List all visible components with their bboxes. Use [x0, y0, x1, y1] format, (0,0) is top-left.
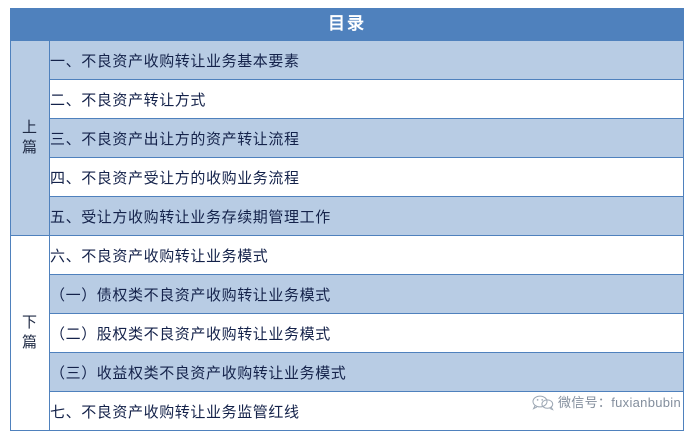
wechat-bubble-icon	[532, 394, 552, 410]
toc-entry-1[interactable]: 一、不良资产收购转让业务基本要素	[50, 41, 684, 80]
part-label-char-2: 篇	[11, 333, 49, 353]
part-label-char-1: 上	[11, 118, 49, 138]
part-label-char-1: 下	[11, 313, 49, 333]
part-label-char-2: 篇	[11, 138, 49, 158]
table-row: 上 篇 一、不良资产收购转让业务基本要素	[11, 41, 684, 80]
toc-entry-4[interactable]: 四、不良资产受让方的收购业务流程	[50, 158, 684, 197]
toc-entry-6-3[interactable]: （三）收益权类不良资产收购转让业务模式	[50, 353, 684, 392]
watermark-text: 微信号：fuxianbubin	[558, 392, 681, 411]
toc-entry-6-2[interactable]: （二）股权类不良资产收购转让业务模式	[50, 314, 684, 353]
toc-table-body: 上 篇 一、不良资产收购转让业务基本要素 二、不良资产转让方式 三、不良资产出让…	[11, 41, 684, 431]
table-row: 下 篇 六、不良资产收购转让业务模式	[11, 236, 684, 275]
table-row: 二、不良资产转让方式	[11, 80, 684, 119]
table-row: （三）收益权类不良资产收购转让业务模式	[11, 353, 684, 392]
toc-table: 上 篇 一、不良资产收购转让业务基本要素 二、不良资产转让方式 三、不良资产出让…	[10, 40, 684, 431]
part-label-upper: 上 篇	[11, 41, 50, 236]
table-row: 三、不良资产出让方的资产转让流程	[11, 119, 684, 158]
toc-entry-5[interactable]: 五、受让方收购转让业务存续期管理工作	[50, 197, 684, 236]
watermark: 微信号：fuxianbubin	[532, 392, 681, 411]
table-of-contents: 目录 上 篇 一、不良资产收购转让业务基本要素 二、不良资产转让方式 三、不良资…	[10, 8, 684, 431]
table-row: （一）债权类不良资产收购转让业务模式	[11, 275, 684, 314]
table-row: 四、不良资产受让方的收购业务流程	[11, 158, 684, 197]
table-row: （二）股权类不良资产收购转让业务模式	[11, 314, 684, 353]
toc-entry-3[interactable]: 三、不良资产出让方的资产转让流程	[50, 119, 684, 158]
toc-entry-6-1[interactable]: （一）债权类不良资产收购转让业务模式	[50, 275, 684, 314]
table-row: 五、受让方收购转让业务存续期管理工作	[11, 197, 684, 236]
page-title: 目录	[10, 8, 684, 40]
toc-entry-6[interactable]: 六、不良资产收购转让业务模式	[50, 236, 684, 275]
part-label-lower: 下 篇	[11, 236, 50, 431]
toc-entry-2[interactable]: 二、不良资产转让方式	[50, 80, 684, 119]
